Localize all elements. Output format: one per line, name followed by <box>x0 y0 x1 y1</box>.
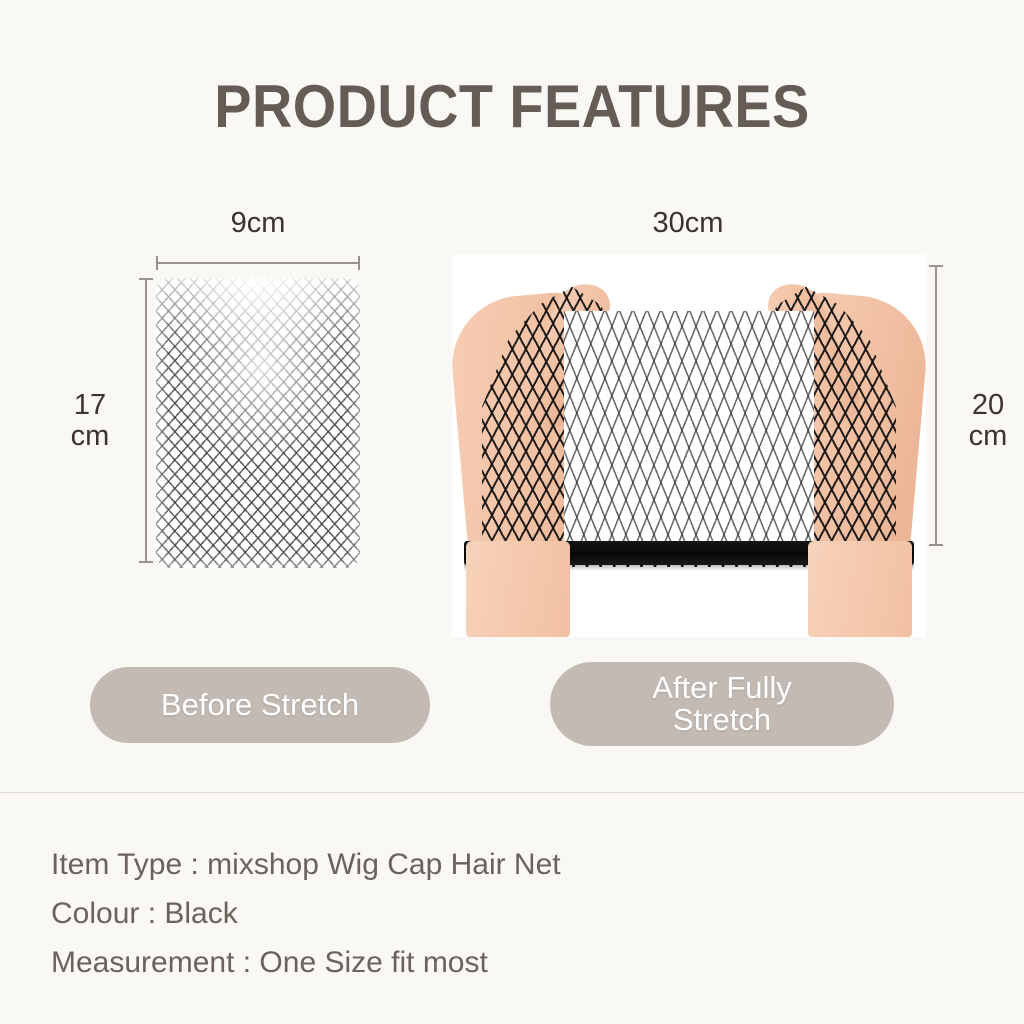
dimension-line-after-height <box>935 265 937 546</box>
stretched-mesh-center <box>564 311 814 557</box>
product-photo-before-stretch <box>156 278 360 568</box>
dimension-label-after-width: 30cm <box>473 208 903 239</box>
caption-after-stretch: After Fully Stretch <box>550 662 894 746</box>
page-title: PRODUCT FEATURES <box>36 72 988 141</box>
section-divider <box>0 792 1024 793</box>
dimension-label-after-height: 20 cm <box>952 390 1024 453</box>
right-wrist <box>808 541 912 637</box>
spec-measurement: Measurement : One Size fit most <box>51 938 951 987</box>
caption-before-stretch: Before Stretch <box>90 667 430 743</box>
dimension-line-before-height <box>145 278 147 563</box>
infographic-page: PRODUCT FEATURES 9cm 17 cm 30cm 20 cm Be… <box>0 0 1024 1024</box>
dimension-label-before-width: 9cm <box>156 208 360 239</box>
spec-item-type: Item Type : mixshop Wig Cap Hair Net <box>51 840 951 889</box>
dimension-line-before-width <box>156 262 360 264</box>
dimension-label-before-height: 17 cm <box>50 390 130 453</box>
spec-colour: Colour : Black <box>51 889 951 938</box>
product-specs: Item Type : mixshop Wig Cap Hair Net Col… <box>51 840 951 987</box>
product-photo-after-stretch <box>452 255 926 637</box>
mesh-edge <box>156 278 360 568</box>
left-wrist <box>466 541 570 637</box>
